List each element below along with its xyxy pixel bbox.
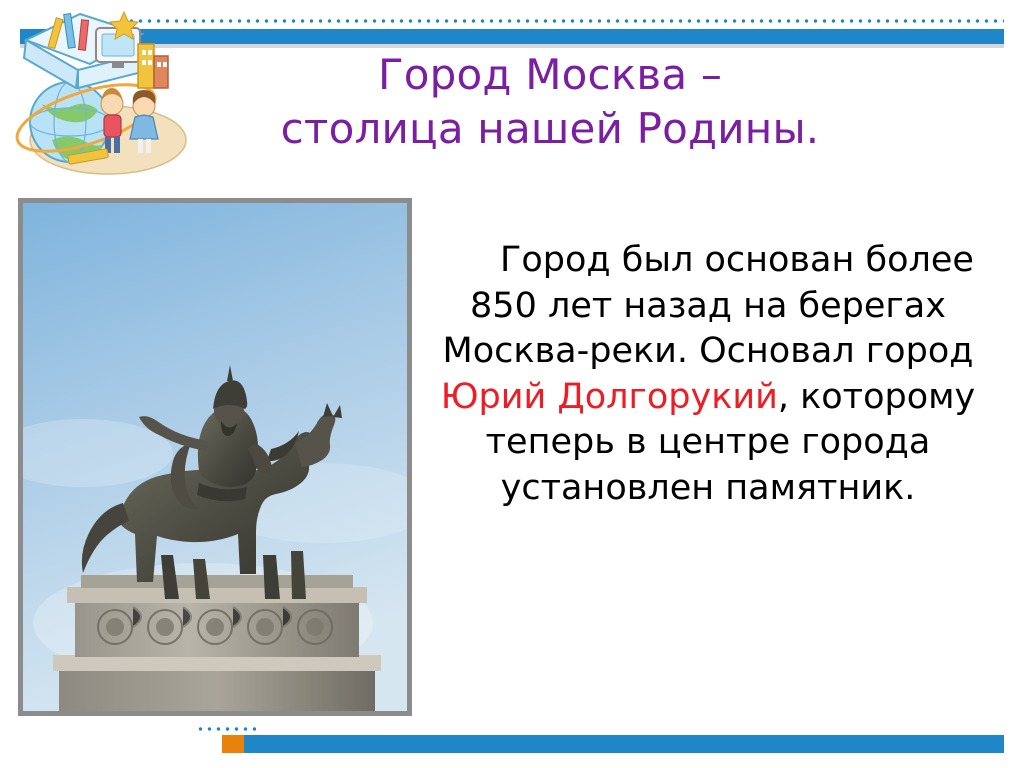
body-text-highlight: Юрий Долгорукий <box>441 377 778 417</box>
slide: Город Москва – столица нашей Родины. <box>0 0 1024 768</box>
top-dotted-line <box>118 18 1004 24</box>
title-line-2: столица нашей Родины. <box>200 102 900 156</box>
monument-yuri-dolgoruky-photo <box>23 203 407 711</box>
bottom-orange-accent <box>222 735 244 753</box>
bottom-blue-bar <box>244 735 1004 753</box>
monument-photo-frame <box>18 198 412 716</box>
page-title: Город Москва – столица нашей Родины. <box>200 48 900 156</box>
bottom-dotted-line <box>196 726 256 732</box>
body-text-part-1: Город был основан более 850 лет назад на… <box>443 240 974 371</box>
school-globe-clipart <box>8 0 198 190</box>
title-line-1: Город Москва – <box>378 50 722 99</box>
slide-body-text: Город был основан более 850 лет назад на… <box>424 238 992 511</box>
